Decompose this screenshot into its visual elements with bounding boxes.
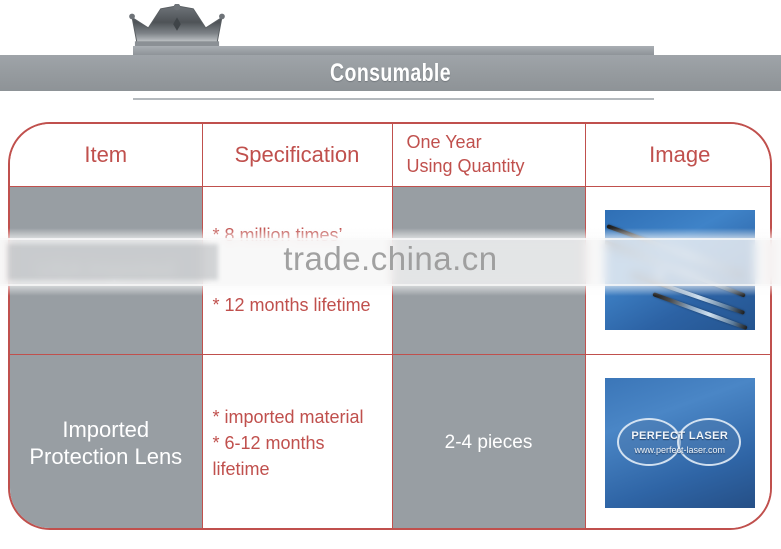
row2-photo-holder: PERFECT LASER www.perfect-laser.com bbox=[586, 355, 773, 531]
column-header-image-label: Image bbox=[586, 142, 773, 168]
row1-spec-line-1: * 8 million times’ bbox=[213, 222, 382, 248]
row2-spec-line-2: * 6-12 months lifetime bbox=[213, 430, 382, 482]
laser-tubes-photo bbox=[605, 210, 755, 330]
row2-item-cell: Imported Protection Lens bbox=[10, 354, 202, 530]
row1-photo-holder bbox=[586, 187, 773, 354]
row1-specification-cell: * 8 million times’ * 12 months lifetime bbox=[202, 186, 392, 354]
row2-item-line-2: Protection Lens bbox=[23, 444, 188, 469]
row2-spec-line-1: * imported material bbox=[213, 404, 382, 430]
row2-quantity-label: 2-4 pieces bbox=[445, 432, 533, 453]
highlight-spark bbox=[655, 270, 664, 279]
row1-specification-text: * 8 million times’ * 12 months lifetime bbox=[203, 222, 392, 318]
row2-image-cell: PERFECT LASER www.perfect-laser.com bbox=[585, 354, 772, 530]
column-header-item-label: Item bbox=[10, 142, 202, 168]
row1-item-cell: USA Imported bbox=[10, 186, 202, 354]
column-header-specification: Specification bbox=[202, 124, 392, 186]
lens-website-label: www.perfect-laser.com bbox=[605, 445, 755, 455]
table-row: USA Imported * 8 million times’ * 12 mon… bbox=[10, 186, 772, 354]
lens-brand-label: PERFECT LASER bbox=[605, 430, 755, 442]
column-header-specification-label: Specification bbox=[203, 142, 392, 168]
row1-spec-line-2: * 12 months lifetime bbox=[213, 292, 382, 318]
lens-disc bbox=[677, 418, 741, 466]
row1-spec-gap bbox=[213, 248, 382, 292]
lens-disc bbox=[617, 418, 681, 466]
section-title-band: Consumable bbox=[0, 55, 781, 91]
page-header: Consumable bbox=[0, 0, 781, 110]
column-header-quantity-line1: One Year bbox=[393, 131, 585, 154]
page-root: Consumable Item Specification bbox=[0, 0, 781, 549]
row2-item-line-1: Imported bbox=[56, 417, 155, 442]
protection-lens-photo: PERFECT LASER www.perfect-laser.com bbox=[605, 378, 755, 508]
table-row: Imported Protection Lens * imported mate… bbox=[10, 354, 772, 530]
row2-specification-cell: * imported material * 6-12 months lifeti… bbox=[202, 354, 392, 530]
consumable-table: Item Specification One Year Using Quanti… bbox=[8, 122, 772, 530]
column-header-item: Item bbox=[10, 124, 202, 186]
column-header-quantity-line2: Using Quantity bbox=[393, 155, 585, 178]
row2-quantity-cell: 2-4 pieces bbox=[392, 354, 585, 530]
row1-quantity-cell bbox=[392, 186, 585, 354]
row1-item-label: USA Imported bbox=[31, 257, 180, 282]
row1-image-cell bbox=[585, 186, 772, 354]
header-underline-rule bbox=[133, 98, 654, 100]
crown-icon bbox=[128, 4, 226, 48]
consumable-table-inner: Item Specification One Year Using Quanti… bbox=[10, 124, 772, 530]
header-accent-bar bbox=[133, 46, 654, 55]
page-title: Consumable bbox=[330, 59, 451, 88]
table-header-row: Item Specification One Year Using Quanti… bbox=[10, 124, 772, 186]
column-header-quantity: One Year Using Quantity bbox=[392, 124, 585, 186]
column-header-image: Image bbox=[585, 124, 772, 186]
row2-specification-text: * imported material * 6-12 months lifeti… bbox=[203, 404, 392, 482]
